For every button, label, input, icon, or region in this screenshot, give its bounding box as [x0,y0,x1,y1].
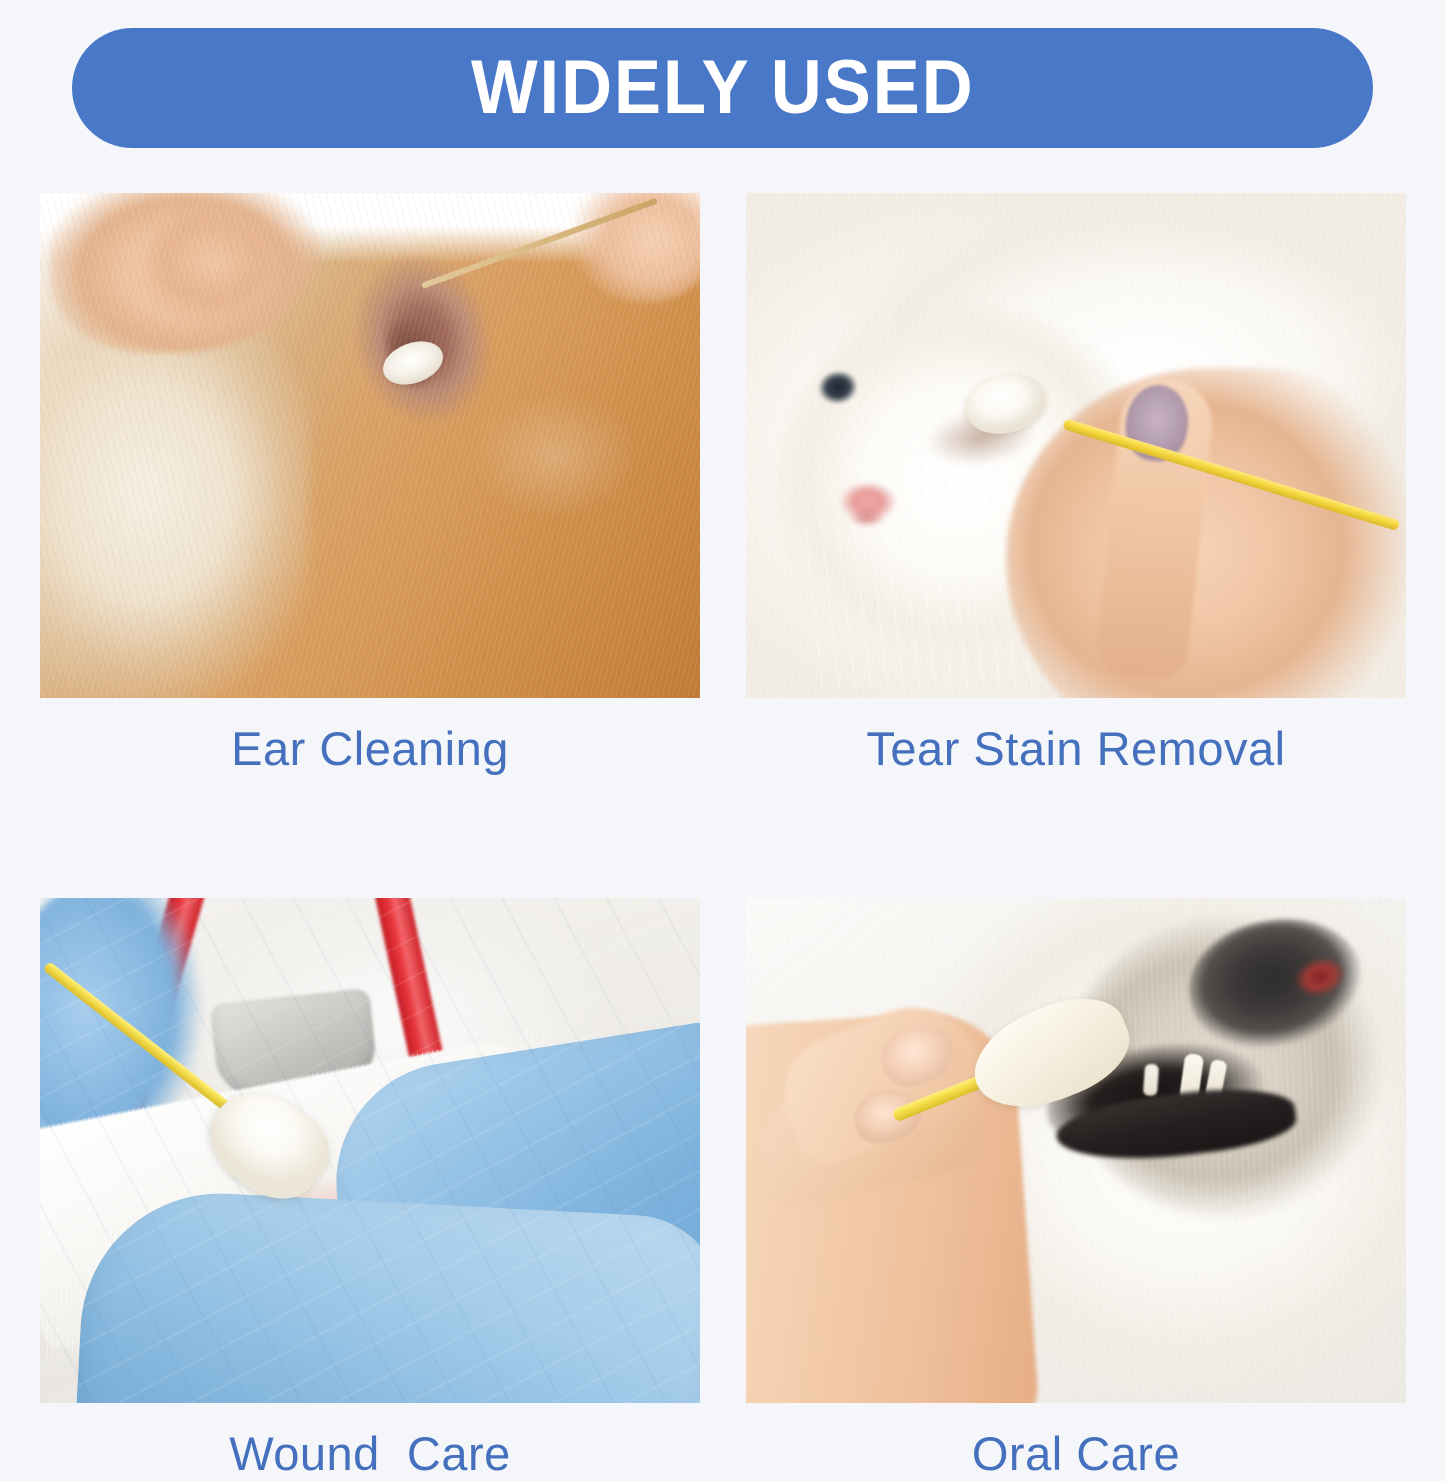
usage-grid: Ear Cleaning [40,193,1406,1481]
grid-cell-tear-stain-removal: Tear Stain Removal [746,193,1406,776]
dog-ear-cleaning-photo [40,193,700,698]
wound-care-photo [40,898,700,1403]
caption-oral-care: Oral Care [746,1403,1406,1481]
caption-wound-care: Wound Care [40,1403,700,1481]
caption-ear-cleaning: Ear Cleaning [40,698,700,776]
grid-row-bottom: Wound Care [40,898,1406,1481]
grid-cell-ear-cleaning: Ear Cleaning [40,193,700,776]
dog-tooth-small [1143,1064,1159,1097]
header-banner: WIDELY USED [72,28,1373,148]
cat-tear-stain-photo [746,193,1406,698]
grid-cell-wound-care: Wound Care [40,898,700,1481]
glove-wrinkle-texture [40,898,700,1403]
infographic-page: WIDELY USED Ear Cleaning [0,0,1445,1445]
oral-care-photo [746,898,1406,1403]
caption-tear-stain-removal: Tear Stain Removal [746,698,1406,776]
grid-row-top: Ear Cleaning [40,193,1406,776]
grid-row-gap [40,776,1406,898]
banner-title: WIDELY USED [471,50,975,126]
grid-cell-oral-care: Oral Care [746,898,1406,1481]
dog-fur-texture [40,193,700,698]
